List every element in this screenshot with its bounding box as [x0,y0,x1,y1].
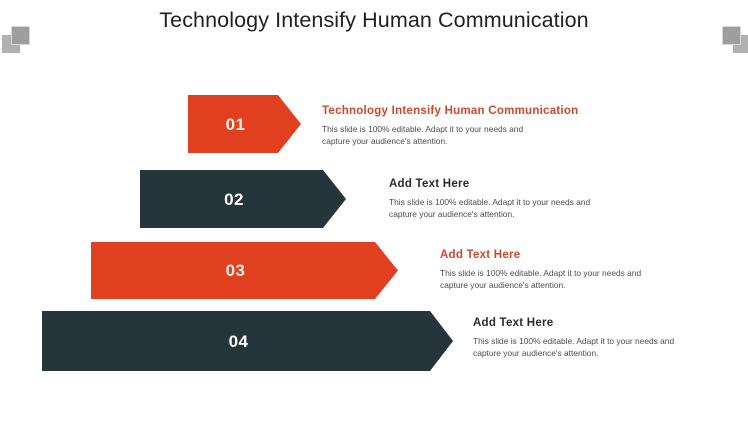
slide-canvas: Technology Intensify Human Communication… [0,0,748,421]
page-title: Technology Intensify Human Communication [0,8,748,33]
arrow-banner-04[interactable]: 04 [42,311,453,371]
item-title: Technology Intensify Human Communication [322,105,578,119]
item-body-line-1: This slide is 100% editable. Adapt it to… [322,124,578,136]
arrow-number-label: 04 [229,333,249,350]
text-block-01: Technology Intensify Human Communication… [322,105,578,148]
arrow-number-label: 01 [226,116,246,133]
item-body-line-2: capture your audience's attention. [322,136,578,148]
item-body-line-2: capture your audience's attention. [389,209,590,221]
arrow-number-label: 03 [226,262,246,279]
item-body-line-1: This slide is 100% editable. Adapt it to… [473,336,674,348]
item-body-line-2: capture your audience's attention. [473,348,674,360]
item-body-line-2: capture your audience's attention. [440,280,641,292]
text-block-03: Add Text Here This slide is 100% editabl… [440,249,641,292]
text-block-04: Add Text Here This slide is 100% editabl… [473,317,674,360]
item-title: Add Text Here [389,178,590,192]
arrow-banner-03[interactable]: 03 [91,242,398,299]
arrow-banner-01[interactable]: 01 [188,95,301,153]
arrow-banner-02[interactable]: 02 [140,170,346,228]
item-body-line-1: This slide is 100% editable. Adapt it to… [389,197,590,209]
item-title: Add Text Here [440,249,641,263]
item-title: Add Text Here [473,317,674,331]
text-block-02: Add Text Here This slide is 100% editabl… [389,178,590,221]
arrow-number-label: 02 [224,191,244,208]
item-body-line-1: This slide is 100% editable. Adapt it to… [440,268,641,280]
